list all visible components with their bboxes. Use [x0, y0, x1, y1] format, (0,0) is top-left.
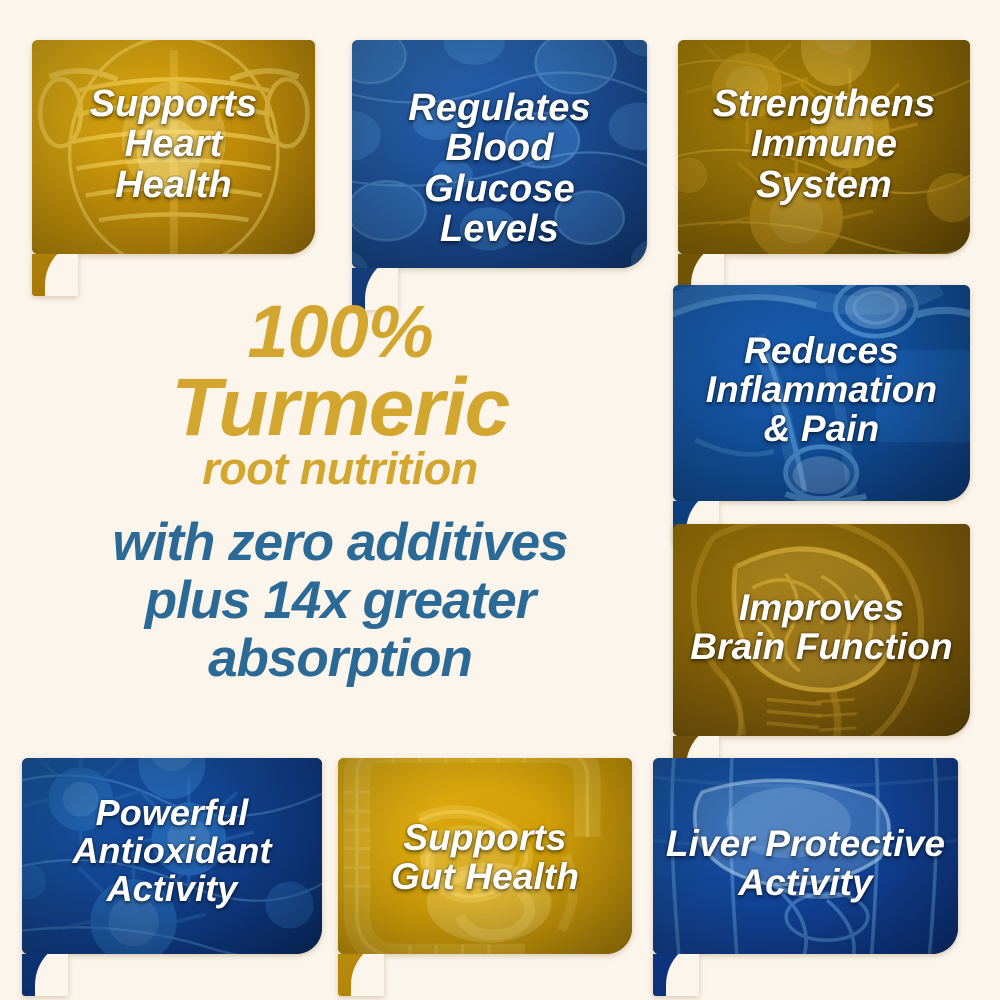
card-body: Supports Gut Health	[338, 758, 632, 954]
benefit-card-heart: Supports Heart Health	[32, 40, 315, 254]
headline-block: 100% Turmeric root nutrition with zero a…	[30, 296, 650, 689]
card-body: Liver Protective Activity	[653, 758, 958, 954]
bubble-tail	[32, 254, 78, 296]
card-body: Regulates Blood Glucose Levels	[352, 40, 647, 268]
headline-product: Turmeric	[30, 367, 650, 449]
benefit-card-label: Strengthens Immune System	[678, 84, 970, 205]
card-body: Improves Brain Function	[673, 524, 970, 736]
card-body: Strengthens Immune System	[678, 40, 970, 254]
benefit-card-gut: Supports Gut Health	[338, 758, 632, 954]
benefit-card-brain: Improves Brain Function	[673, 524, 970, 736]
benefit-card-label: Supports Gut Health	[338, 818, 632, 896]
benefit-card-antioxidant: Powerful Antioxidant Activity	[22, 758, 322, 954]
benefit-card-inflammation: Reduces Inflammation & Pain	[673, 285, 970, 501]
card-body: Supports Heart Health	[32, 40, 315, 254]
headline-percent: 100%	[30, 296, 650, 369]
card-body: Powerful Antioxidant Activity	[22, 758, 322, 954]
benefit-card-glucose: Regulates Blood Glucose Levels	[352, 40, 647, 268]
benefit-card-label: Supports Heart Health	[32, 84, 315, 205]
benefit-card-label: Reduces Inflammation & Pain	[673, 331, 970, 449]
card-body: Reduces Inflammation & Pain	[673, 285, 970, 501]
infographic-canvas: Supports Heart Health	[0, 0, 1000, 1000]
benefit-card-immune: Strengthens Immune System	[678, 40, 970, 254]
benefit-card-label: Liver Protective Activity	[653, 824, 958, 902]
bubble-tail	[338, 954, 384, 996]
benefit-card-liver: Liver Protective Activity	[653, 758, 958, 954]
headline-claim: with zero additives plus 14x greater abs…	[30, 514, 650, 689]
benefit-card-label: Improves Brain Function	[673, 588, 970, 666]
benefit-card-label: Regulates Blood Glucose Levels	[352, 88, 647, 249]
benefit-card-label: Powerful Antioxidant Activity	[22, 794, 322, 908]
bubble-tail	[22, 954, 68, 996]
bubble-tail	[653, 954, 699, 996]
headline-subtitle: root nutrition	[30, 445, 650, 492]
